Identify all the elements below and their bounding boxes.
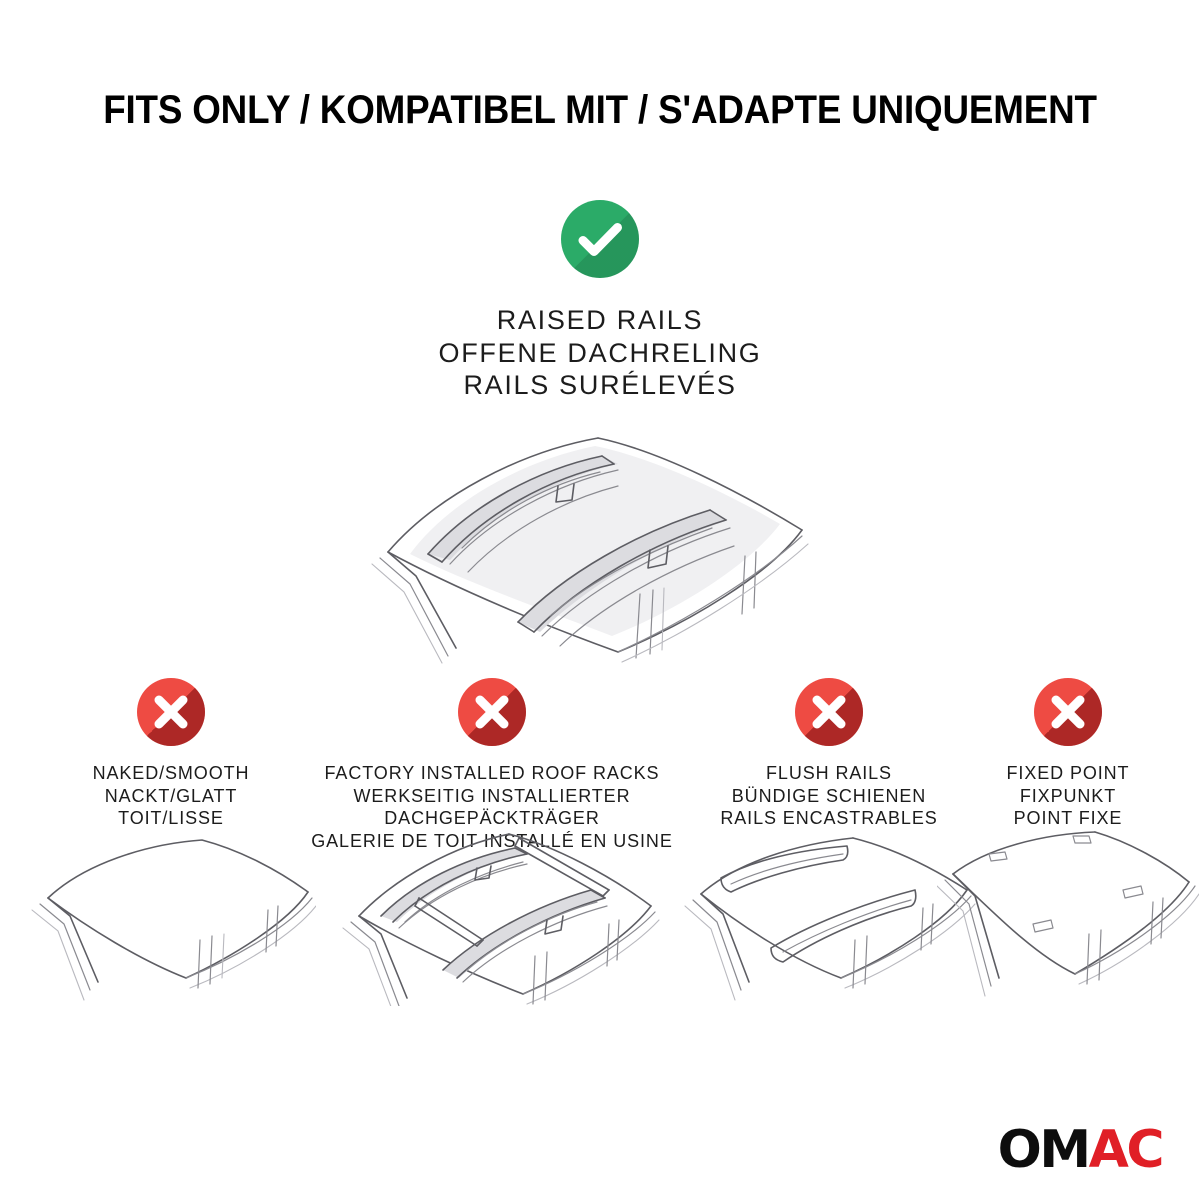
incompatible-column-factory-rack: FACTORY INSTALLED ROOF RACKS WERKSEITIG … — [304, 678, 680, 853]
label-en: FIXED POINT — [972, 762, 1164, 785]
label-en: FLUSH RAILS — [686, 762, 972, 785]
incompatible-column-naked: NAKED/SMOOTH NACKT/GLATT TOIT/LISSE — [38, 678, 304, 830]
x-mark-glyph — [137, 678, 205, 746]
x-circle-icon — [458, 678, 526, 746]
incompatible-column-fixed-point: FIXED POINT FIXPUNKT POINT FIXE — [972, 678, 1164, 830]
incompatible-labels: FIXED POINT FIXPUNKT POINT FIXE — [972, 762, 1164, 830]
label-fr: RAILS ENCASTRABLES — [686, 807, 972, 830]
label-de-1: WERKSEITIG INSTALLIERTER — [304, 785, 680, 808]
x-mark-glyph — [1034, 678, 1102, 746]
logo-text-red: AC — [1089, 1120, 1162, 1180]
compatible-section: RAISED RAILS OFFENE DACHRELING RAILS SUR… — [0, 200, 1200, 402]
label-en: NAKED/SMOOTH — [38, 762, 304, 785]
compatible-labels: RAISED RAILS OFFENE DACHRELING RAILS SUR… — [0, 304, 1200, 402]
x-circle-icon — [1034, 678, 1102, 746]
compatible-label-fr: RAILS SURÉLEVÉS — [0, 369, 1200, 402]
page-title: FITS ONLY / KOMPATIBEL MIT / S'ADAPTE UN… — [48, 88, 1152, 133]
car-roof-naked-illustration — [26, 836, 316, 1006]
x-mark-glyph — [458, 678, 526, 746]
x-circle-icon — [137, 678, 205, 746]
infographic-page: FITS ONLY / KOMPATIBEL MIT / S'ADAPTE UN… — [0, 0, 1200, 1200]
incompatible-column-flush-rails: FLUSH RAILS BÜNDIGE SCHIENEN RAILS ENCAS… — [686, 678, 972, 830]
x-mark-glyph — [795, 678, 863, 746]
compatible-label-de: OFFENE DACHRELING — [0, 337, 1200, 370]
car-roof-raised-rails-illustration — [350, 404, 850, 669]
logo-text-black: OM — [998, 1120, 1089, 1180]
omac-logo: OMAC — [998, 1124, 1162, 1176]
check-mark-glyph — [561, 200, 639, 278]
compatible-label-en: RAISED RAILS — [0, 304, 1200, 337]
incompatible-labels: FLUSH RAILS BÜNDIGE SCHIENEN RAILS ENCAS… — [686, 762, 972, 830]
car-roof-factory-rack-illustration — [319, 820, 665, 1006]
check-circle-icon — [561, 200, 639, 278]
incompatible-labels: NAKED/SMOOTH NACKT/GLATT TOIT/LISSE — [38, 762, 304, 830]
car-roof-fixed-point-illustration — [937, 828, 1199, 1004]
label-fr: TOIT/LISSE — [38, 807, 304, 830]
label-de: NACKT/GLATT — [38, 785, 304, 808]
car-roof-flush-rails-illustration — [679, 836, 979, 1006]
x-circle-icon — [795, 678, 863, 746]
label-fr: POINT FIXE — [972, 807, 1164, 830]
label-de: FIXPUNKT — [972, 785, 1164, 808]
label-en: FACTORY INSTALLED ROOF RACKS — [304, 762, 680, 785]
label-de: BÜNDIGE SCHIENEN — [686, 785, 972, 808]
